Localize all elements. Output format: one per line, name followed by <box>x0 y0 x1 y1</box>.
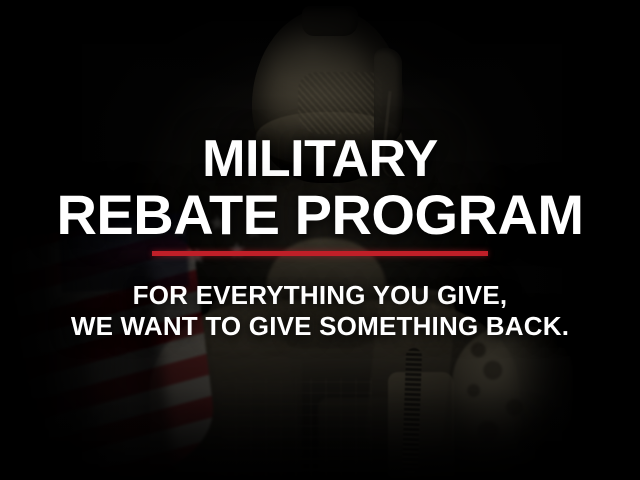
subheadline-line-2: WE WANT TO GIVE SOMETHING BACK. <box>0 311 640 341</box>
headline-line-2: REBATE PROGRAM <box>0 186 640 244</box>
subheadline-line-1: FOR EVERYTHING YOU GIVE, <box>0 280 640 310</box>
accent-divider-rule <box>152 251 488 256</box>
military-rebate-banner: MILITARY REBATE PROGRAM FOR EVERYTHING Y… <box>0 0 640 480</box>
text-overlay: MILITARY REBATE PROGRAM FOR EVERYTHING Y… <box>0 0 640 480</box>
headline-line-1: MILITARY <box>0 132 640 186</box>
